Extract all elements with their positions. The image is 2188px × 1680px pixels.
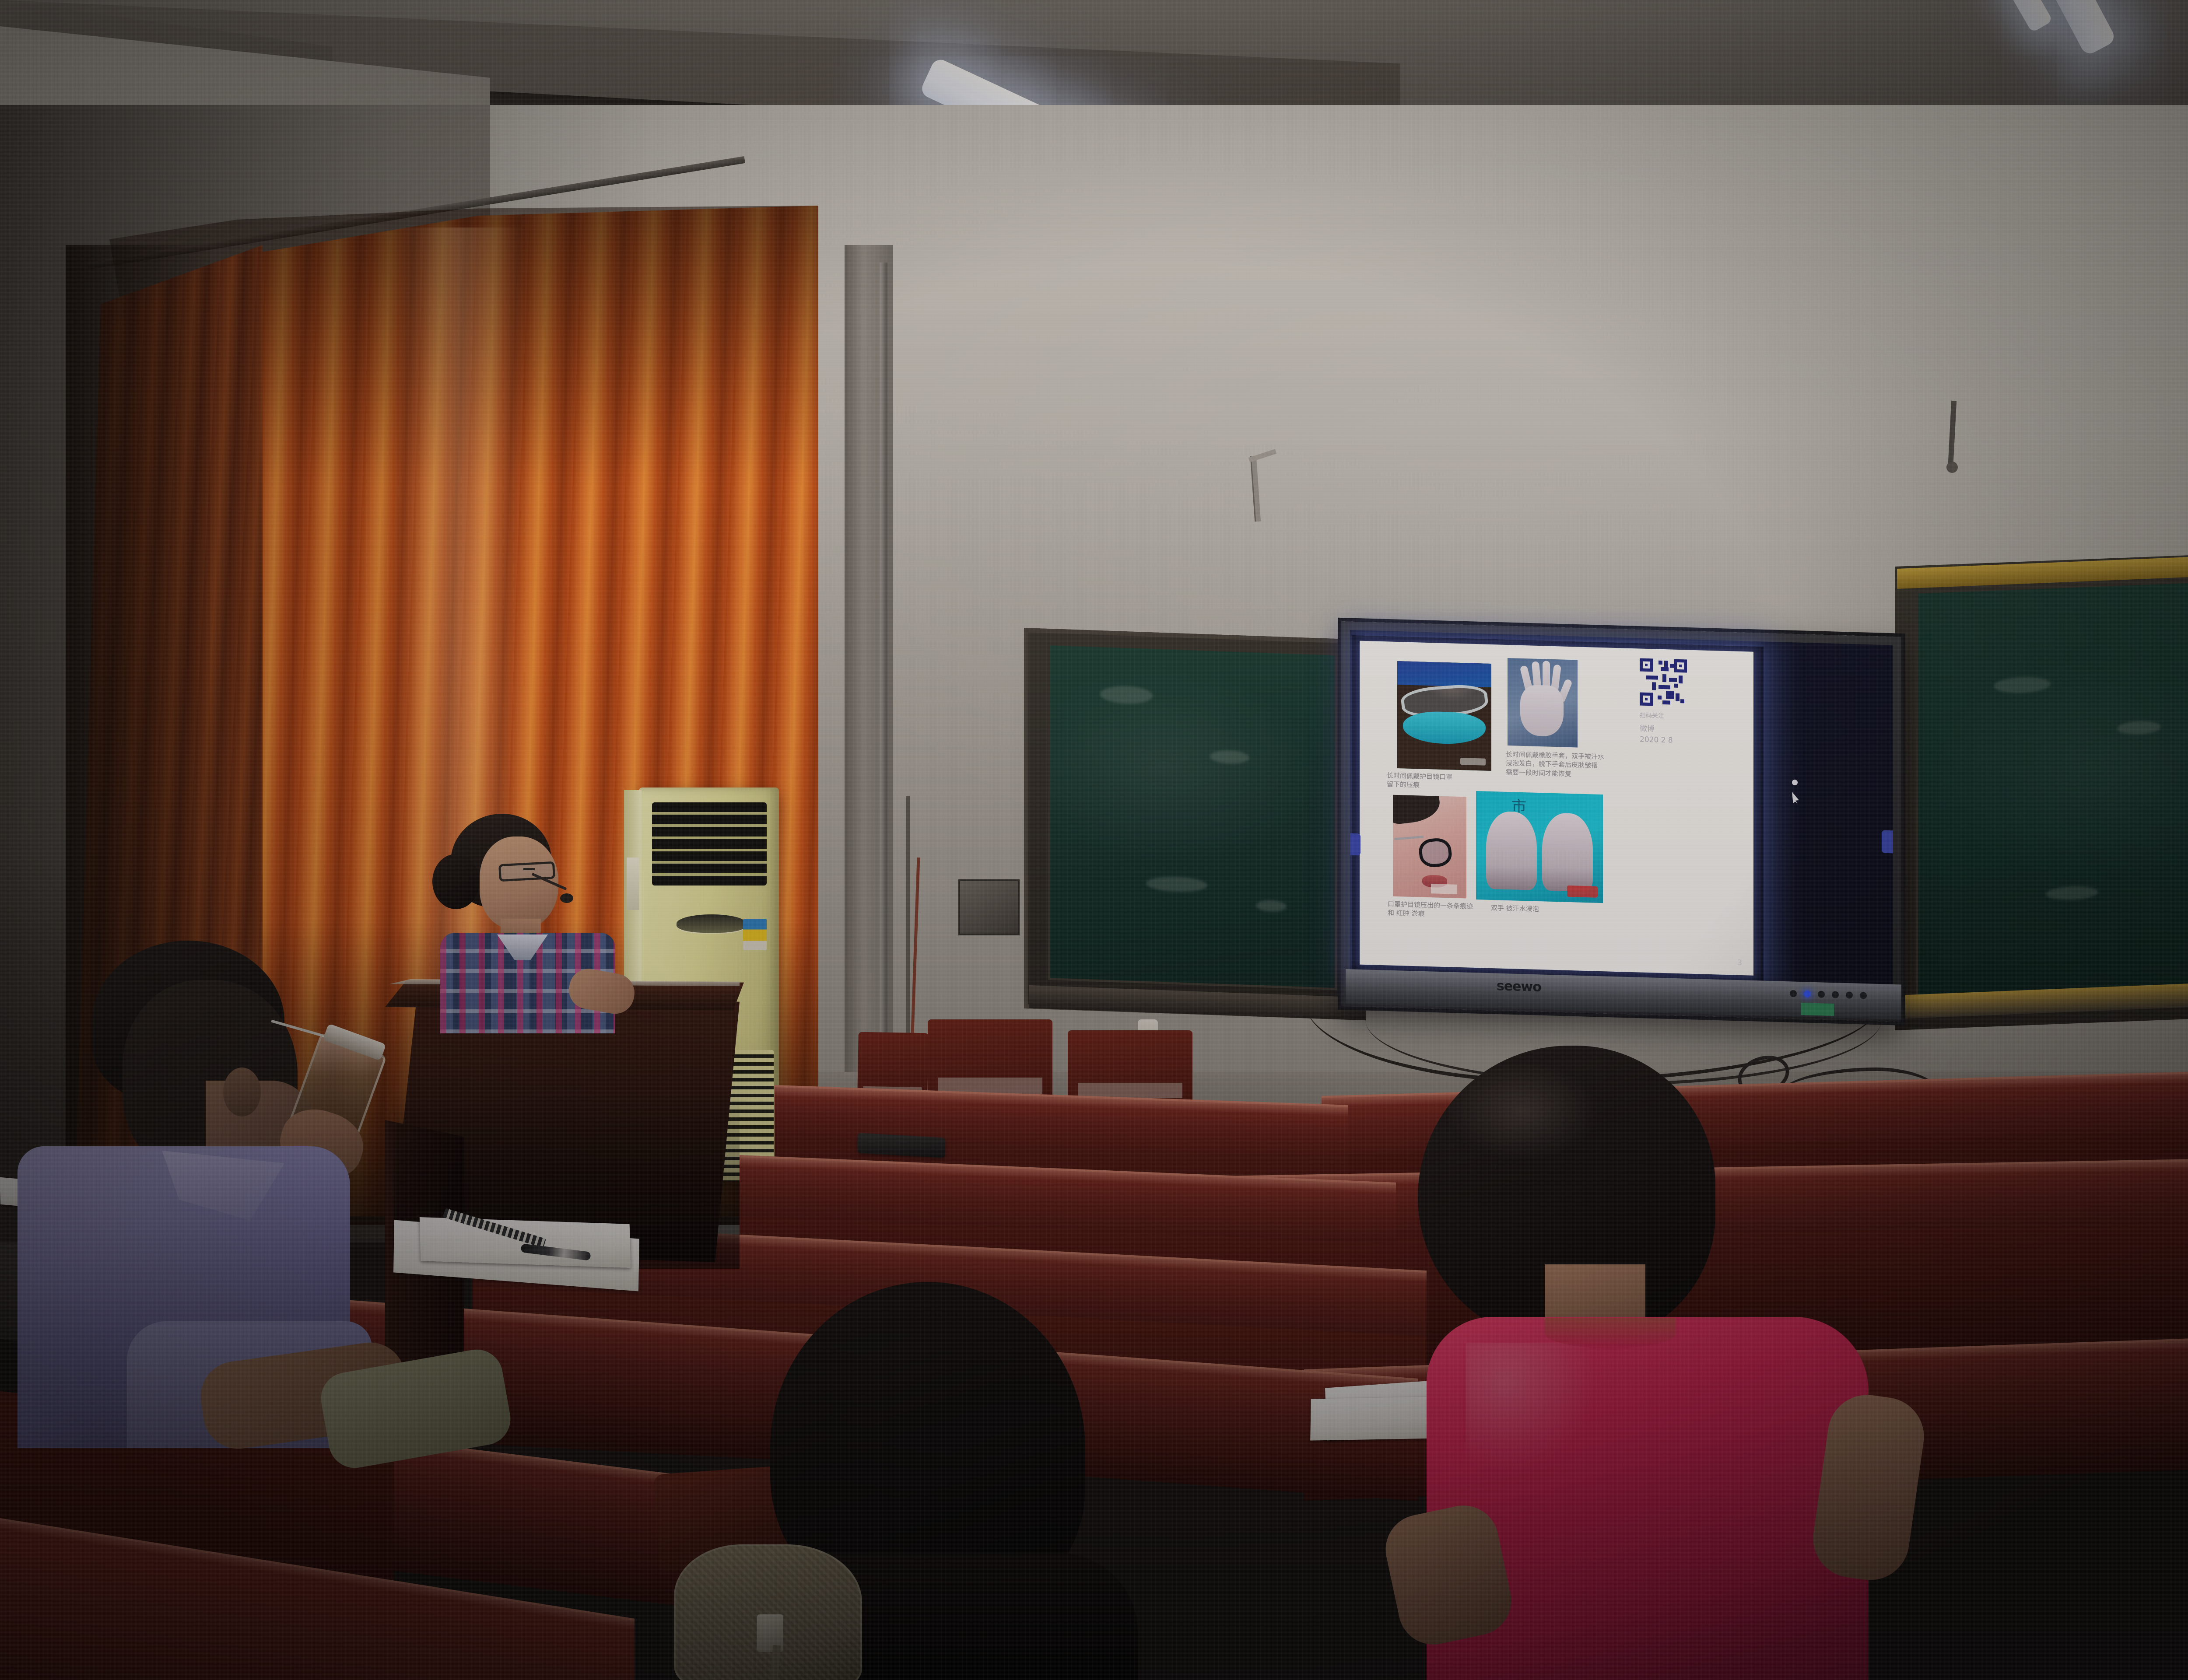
chalk-smudge	[1210, 750, 1249, 764]
slide-photo-face-pressure-marks	[1393, 795, 1466, 899]
chalk-smudge	[1100, 686, 1153, 705]
chalk-smudge	[1994, 676, 2051, 694]
slide-caption-4: 双手 被汗水浸泡	[1491, 903, 1596, 915]
qr-meta-line-2: 微博	[1640, 722, 1655, 733]
classroom-photo: 长时间佩戴护目镜口罩 留下的压痕 长时间佩戴橡胶手套，双手被汗水 浸泡发白，脱下…	[0, 0, 2188, 1680]
qr-meta-line-3: 2020 2 8	[1640, 735, 1673, 745]
screen-highlight-dot	[1792, 780, 1798, 785]
chalk-smudge	[2046, 885, 2098, 901]
presentation-slide[interactable]: 长时间佩戴护目镜口罩 留下的压痕 长时间佩戴橡胶手套，双手被汗水 浸泡发白，脱下…	[1360, 641, 1753, 976]
display-sidebar-tab-right[interactable]	[1882, 830, 1893, 854]
slide-caption-2: 长时间佩戴橡胶手套，双手被汗水 浸泡发白，脱下手套后皮肤皱褶 需要一段时间才能恢…	[1506, 750, 1637, 780]
chalk-smudge	[1146, 875, 1207, 892]
qr-finder-top-left	[1640, 658, 1653, 672]
wall-corner-edge	[880, 262, 887, 1032]
air-conditioner-display-slot[interactable]	[677, 914, 747, 933]
chalkboard-left-surface[interactable]	[1048, 643, 1337, 990]
hair	[1393, 795, 1442, 825]
presenter-hair-bun	[432, 854, 480, 909]
air-conditioner-side-sticker	[627, 857, 639, 910]
slide-caption-1: 长时间佩戴护目镜口罩 留下的压痕	[1387, 771, 1495, 791]
surgical-mask-icon	[1403, 710, 1486, 745]
presenter-face	[480, 836, 558, 929]
palm	[1520, 685, 1564, 737]
attendee-pink-shoulder-highlight	[1466, 1343, 1597, 1474]
handbag[interactable]	[674, 1544, 862, 1680]
presenter	[420, 814, 626, 1024]
attendee-silhouette	[683, 1282, 1147, 1680]
slide-page-number: 3	[1737, 959, 1742, 967]
seewo-brand-logo: seewo	[1497, 978, 1553, 996]
presenter-eyeglasses-bridge	[523, 868, 535, 870]
display-button-menu[interactable]	[1818, 991, 1825, 998]
wall-conduit	[906, 796, 910, 1067]
qr-finder-top-right	[1674, 659, 1687, 673]
air-conditioner-top-vent	[652, 802, 767, 885]
slide-photo-macerated-hands: 市	[1476, 791, 1603, 903]
banner-hook-right-tip	[1946, 462, 1958, 473]
display-sidebar-tab-left[interactable]	[1350, 833, 1360, 856]
display-button-home[interactable]	[1860, 992, 1867, 999]
slide-photo-medic-goggles-mask	[1397, 661, 1491, 771]
right-hand	[1542, 812, 1593, 892]
eyeglasses-icon	[1418, 837, 1453, 868]
photo-watermark	[1460, 758, 1486, 766]
display-button-power[interactable]	[1790, 990, 1797, 997]
display-button-input[interactable]	[1804, 990, 1811, 997]
slide-caption-3: 口罩护目镜压出的一条条痕迹 和 红肿 淤痕	[1388, 899, 1497, 920]
photo-watermark	[1431, 884, 1457, 894]
chalk-smudge	[2117, 721, 2161, 735]
qr-meta-line-1: 扫码关注	[1640, 710, 1664, 720]
display-button-volume-down[interactable]	[1832, 991, 1839, 998]
qr-code-icon[interactable]	[1640, 658, 1687, 707]
energy-efficiency-label	[743, 919, 767, 950]
attendee-ear	[223, 1067, 261, 1116]
chalkboard-right-surface[interactable]	[1916, 579, 2188, 998]
attendee-pink-top	[1400, 1046, 1925, 1680]
wall-power-box[interactable]	[958, 879, 1020, 935]
eyeglass-temple-arm	[1394, 836, 1424, 840]
slide-photo-pale-hand	[1508, 658, 1578, 747]
headset-microphone-icon	[560, 893, 573, 903]
display-button-volume-up[interactable]	[1846, 991, 1853, 998]
green-board-magnet[interactable]	[1801, 1003, 1834, 1016]
chalk-smudge	[1256, 899, 1287, 912]
left-hand	[1486, 811, 1537, 890]
qr-finder-bottom-left	[1640, 692, 1653, 706]
surgical-cap	[1397, 661, 1491, 687]
attendee-drinking-tea	[18, 941, 376, 1444]
interactive-display-panel[interactable]: 长时间佩戴护目镜口罩 留下的压痕 长时间佩戴橡胶手套，双手被汗水 浸泡发白，脱下…	[1350, 630, 1893, 991]
photo-watermark-zhongxinwang	[1567, 885, 1598, 897]
